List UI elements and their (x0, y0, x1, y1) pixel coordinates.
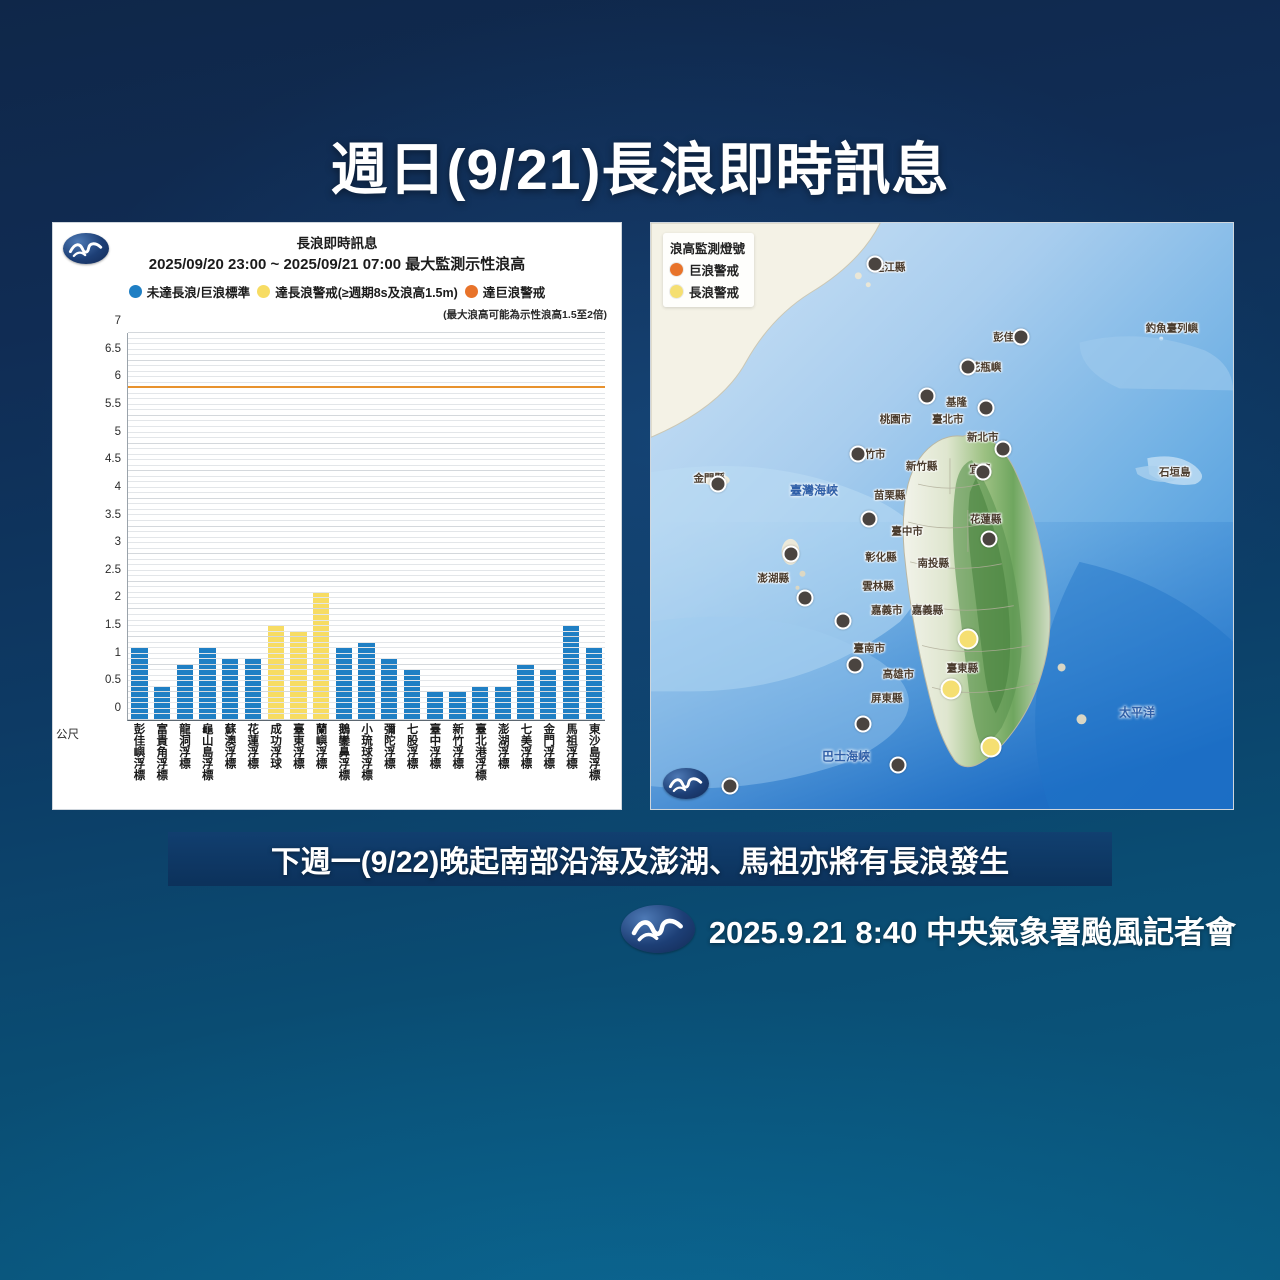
gridline (128, 465, 605, 466)
gridline (128, 631, 605, 632)
x-axis-label: 新竹浮標 (451, 723, 463, 781)
gridline (128, 691, 605, 692)
x-axis-label-slot: 小琉球浮標 (355, 723, 378, 781)
gridline (128, 680, 605, 681)
y-axis-tick: 2 (115, 591, 121, 603)
buoy-marker[interactable] (919, 387, 936, 404)
gridline (128, 575, 605, 576)
x-axis-label: 七美浮標 (519, 723, 531, 781)
buoy-marker[interactable] (980, 531, 997, 548)
x-axis-label-slot: 七美浮標 (514, 723, 537, 781)
wave-height-chart-panel: 長浪即時訊息 2025/09/20 23:00 ~ 2025/09/21 07:… (52, 222, 622, 810)
x-axis-label: 彌陀浮標 (383, 723, 395, 781)
gridline (128, 371, 605, 372)
legend-color-swatch (465, 285, 478, 298)
bar-slot (173, 333, 196, 720)
bar-slot (242, 333, 265, 720)
gridline (128, 481, 605, 482)
bar-slot (128, 333, 151, 720)
bar-slot (151, 333, 174, 720)
x-axis-label: 蘇澳浮標 (223, 723, 235, 781)
gridline (128, 492, 605, 493)
x-axis-label: 富貴角浮標 (155, 723, 167, 781)
legend-label: 未達長浪/巨浪標準 (147, 282, 250, 301)
bar-slot (310, 333, 333, 720)
gridline (128, 459, 605, 460)
bar-slot (378, 333, 401, 720)
bar-slot (492, 333, 515, 720)
gridline (128, 404, 605, 405)
wave-monitor-map-panel[interactable]: 浪高監測燈號 巨浪警戒長浪警戒 連江縣彭佳嶼花瓶嶼基隆桃園市臺北市新北市竹市新竹… (650, 222, 1234, 810)
gridline (128, 382, 605, 383)
buoy-marker[interactable] (782, 546, 799, 563)
x-axis-label: 蘭嶼浮標 (314, 723, 326, 781)
gridline (128, 476, 605, 477)
bar-slot (560, 333, 583, 720)
buoy-marker[interactable] (1012, 329, 1029, 346)
bar-slot (514, 333, 537, 720)
map-legend-item: 長浪警戒 (670, 282, 745, 301)
map-legend-title: 浪高監測燈號 (670, 238, 745, 257)
footer: 2025.9.21 8:40 中央氣象署颱風記者會 (621, 905, 1236, 953)
buoy-marker[interactable] (721, 777, 738, 794)
gridline (128, 426, 605, 427)
bar-series (128, 333, 605, 720)
gridline (128, 420, 605, 421)
gridline (128, 713, 605, 714)
x-axis-label-slot: 臺中浮標 (423, 723, 446, 781)
buoy-marker[interactable] (835, 613, 852, 630)
gridline (128, 448, 605, 449)
x-axis-label-slot: 花蓮浮標 (241, 723, 264, 781)
gridline (128, 642, 605, 643)
x-axis-label: 金門浮標 (542, 723, 554, 781)
gridline (128, 719, 605, 720)
gridline (128, 520, 605, 521)
gridline (128, 658, 605, 659)
legend-item: 達長浪警戒(≥週期8s及浪高1.5m) (257, 282, 458, 301)
gridline (128, 548, 605, 549)
page-title: 週日(9/21)長浪即時訊息 (0, 124, 1280, 206)
cwa-logo-icon (663, 768, 709, 799)
bar-slot (401, 333, 424, 720)
buoy-marker[interactable] (981, 737, 1002, 758)
bar (268, 626, 284, 720)
y-axis-tick: 3 (115, 536, 121, 548)
gridline (128, 409, 605, 410)
x-axis-label: 小琉球浮標 (360, 723, 372, 781)
gridline (128, 564, 605, 565)
bar (313, 593, 329, 720)
gridline (128, 503, 605, 504)
legend-label: 達巨浪警戒 (483, 282, 546, 301)
gridline (128, 675, 605, 676)
gridline (128, 702, 605, 703)
plot-canvas: 公尺 00.511.522.533.544.555.566.57 (127, 333, 605, 721)
buoy-marker[interactable] (797, 590, 814, 607)
y-axis-tick: 1 (115, 647, 121, 659)
gridline (128, 487, 605, 488)
gridline (128, 553, 605, 554)
y-axis-tick: 5.5 (105, 398, 121, 410)
bar-slot (446, 333, 469, 720)
cwa-logo-icon (621, 905, 695, 953)
buoy-marker[interactable] (861, 510, 878, 527)
x-axis-label-slot: 臺北港浮標 (468, 723, 491, 781)
bar (177, 665, 193, 720)
x-axis-label: 臺東浮標 (292, 723, 304, 781)
x-axis-label-slot: 蘭嶼浮標 (309, 723, 332, 781)
x-axis-label: 龜山島浮標 (201, 723, 213, 781)
x-axis-label: 七股浮標 (405, 723, 417, 781)
gridline (128, 608, 605, 609)
buoy-marker[interactable] (940, 678, 961, 699)
bar-slot (469, 333, 492, 720)
x-axis-label-slot: 富貴角浮標 (150, 723, 173, 781)
bar-slot (287, 333, 310, 720)
buoy-marker[interactable] (846, 657, 863, 674)
gridline (128, 625, 605, 626)
gridline (128, 531, 605, 532)
gridline (128, 398, 605, 399)
buoy-marker[interactable] (849, 446, 866, 463)
gridline (128, 542, 605, 543)
y-axis-tick: 5 (115, 426, 121, 438)
bar (517, 665, 533, 720)
gridline (128, 343, 605, 344)
y-axis-tick: 1.5 (105, 619, 121, 631)
buoy-marker[interactable] (977, 399, 994, 416)
cwa-logo-icon (63, 233, 109, 264)
x-axis-label-slot: 龍洞浮標 (173, 723, 196, 781)
y-axis-tick: 2.5 (105, 564, 121, 576)
gridline (128, 415, 605, 416)
gridline (128, 470, 605, 471)
map-legend-label: 巨浪警戒 (689, 260, 739, 279)
gridline (128, 647, 605, 648)
y-axis-tick: 6 (115, 370, 121, 382)
buoy-marker[interactable] (995, 440, 1012, 457)
chart-header: 長浪即時訊息 2025/09/20 23:00 ~ 2025/09/21 07:… (53, 223, 621, 301)
x-axis-label-slot: 澎湖浮標 (491, 723, 514, 781)
legend-item: 達巨浪警戒 (465, 282, 546, 301)
map-legend-color-swatch (670, 285, 683, 298)
x-axis-label-slot: 鵝鑾鼻浮標 (332, 723, 355, 781)
map-legend-label: 長浪警戒 (689, 282, 739, 301)
y-axis-tick: 0 (115, 702, 121, 714)
map-legend: 浪高監測燈號 巨浪警戒長浪警戒 (663, 233, 754, 307)
x-axis-label: 花蓮浮標 (246, 723, 258, 781)
gridline (128, 592, 605, 593)
gridline (128, 349, 605, 350)
x-axis-label: 龍洞浮標 (178, 723, 190, 781)
gridline (128, 514, 605, 515)
gridline (128, 586, 605, 587)
gridline (128, 437, 605, 438)
legend-label: 達長浪警戒(≥週期8s及浪高1.5m) (275, 282, 458, 301)
y-axis-tick: 7 (115, 315, 121, 327)
gridline (128, 653, 605, 654)
buoy-marker[interactable] (855, 716, 872, 733)
y-axis-tick: 4.5 (105, 453, 121, 465)
bar-slot (219, 333, 242, 720)
x-axis-label-slot: 東沙島浮標 (582, 723, 605, 781)
gridline (128, 636, 605, 637)
bar-slot (582, 333, 605, 720)
footer-timestamp: 2025.9.21 8:40 中央氣象署颱風記者會 (709, 907, 1236, 952)
x-axis-label: 成功浮球 (269, 723, 281, 781)
gridline (128, 338, 605, 339)
gridline (128, 526, 605, 527)
gridline (128, 354, 605, 355)
gridline (128, 393, 605, 394)
gridline (128, 537, 605, 538)
gridline (128, 708, 605, 709)
x-axis-label-slot: 新竹浮標 (446, 723, 469, 781)
gridline (128, 432, 605, 433)
x-axis-label: 馬祖浮標 (565, 723, 577, 781)
x-axis-label-slot: 彭佳嶼浮標 (127, 723, 150, 781)
buoy-marker[interactable] (709, 475, 726, 492)
chart-title: 長浪即時訊息 (63, 235, 611, 253)
x-axis-label-slot: 馬祖浮標 (560, 723, 583, 781)
x-axis-label-slot: 臺東浮標 (286, 723, 309, 781)
caption-bar: 下週一(9/22)晚起南部沿海及澎湖、馬祖亦將有長浪發生 (168, 832, 1112, 886)
x-axis-label: 澎湖浮標 (497, 723, 509, 781)
gridline (128, 686, 605, 687)
map-legend-item: 巨浪警戒 (670, 260, 745, 279)
bar-slot (332, 333, 355, 720)
x-axis-label-slot: 彌陀浮標 (377, 723, 400, 781)
buoy-marker[interactable] (958, 629, 979, 650)
gridline (128, 360, 605, 361)
y-axis-tick: 3.5 (105, 509, 121, 521)
gridline (128, 498, 605, 499)
gridline (128, 376, 605, 377)
x-axis-label: 東沙島浮標 (588, 723, 600, 781)
x-axis-label-slot: 七股浮標 (400, 723, 423, 781)
gridline (128, 581, 605, 582)
gridline (128, 443, 605, 444)
gridline (128, 509, 605, 510)
legend-color-swatch (129, 285, 142, 298)
x-axis-label: 臺中浮標 (428, 723, 440, 781)
bar-slot (423, 333, 446, 720)
gridline (128, 332, 605, 333)
gridline (128, 664, 605, 665)
chart-plot-area: 公尺 00.511.522.533.544.555.566.57 彭佳嶼浮標富貴… (53, 319, 621, 809)
huge-wave-threshold-line (128, 386, 605, 389)
y-axis-tick: 4 (115, 481, 121, 493)
legend-item: 未達長浪/巨浪標準 (129, 282, 250, 301)
gridline (128, 597, 605, 598)
x-axis-label-slot: 蘇澳浮標 (218, 723, 241, 781)
gridline (128, 614, 605, 615)
gridline (128, 570, 605, 571)
chart-legend: 未達長浪/巨浪標準達長浪警戒(≥週期8s及浪高1.5m)達巨浪警戒 (63, 282, 611, 301)
y-axis-tick: 0.5 (105, 674, 121, 686)
buoy-marker[interactable] (890, 757, 907, 774)
x-axis-label-slot: 成功浮球 (264, 723, 287, 781)
x-axis-label: 鵝鑾鼻浮標 (337, 723, 349, 781)
gridline (128, 365, 605, 366)
taiwan-map-graphic (651, 223, 1233, 809)
bar-slot (355, 333, 378, 720)
bar-slot (264, 333, 287, 720)
gridline (128, 669, 605, 670)
bar-slot (196, 333, 219, 720)
x-axis-labels: 彭佳嶼浮標富貴角浮標龍洞浮標龜山島浮標蘇澳浮標花蓮浮標成功浮球臺東浮標蘭嶼浮標鵝… (127, 723, 605, 781)
bar (563, 626, 579, 720)
x-axis-label: 彭佳嶼浮標 (132, 723, 144, 781)
gridline (128, 603, 605, 604)
panels-container: 長浪即時訊息 2025/09/20 23:00 ~ 2025/09/21 07:… (52, 222, 1234, 810)
y-axis-unit-label: 公尺 (56, 726, 79, 742)
gridline (128, 559, 605, 560)
x-axis-label: 臺北港浮標 (474, 723, 486, 781)
buoy-marker[interactable] (960, 358, 977, 375)
buoy-marker[interactable] (974, 464, 991, 481)
x-axis-label-slot: 金門浮標 (537, 723, 560, 781)
buoy-marker[interactable] (867, 256, 884, 273)
gridline (128, 454, 605, 455)
legend-color-swatch (257, 285, 270, 298)
map-legend-color-swatch (670, 263, 683, 276)
chart-subtitle: 2025/09/20 23:00 ~ 2025/09/21 07:00 最大監測… (63, 255, 611, 275)
gridline (128, 697, 605, 698)
gridline (128, 620, 605, 621)
x-axis-label-slot: 龜山島浮標 (195, 723, 218, 781)
bar-slot (537, 333, 560, 720)
y-axis-tick: 6.5 (105, 343, 121, 355)
caption-text: 下週一(9/22)晚起南部沿海及澎湖、馬祖亦將有長浪發生 (271, 837, 1009, 881)
